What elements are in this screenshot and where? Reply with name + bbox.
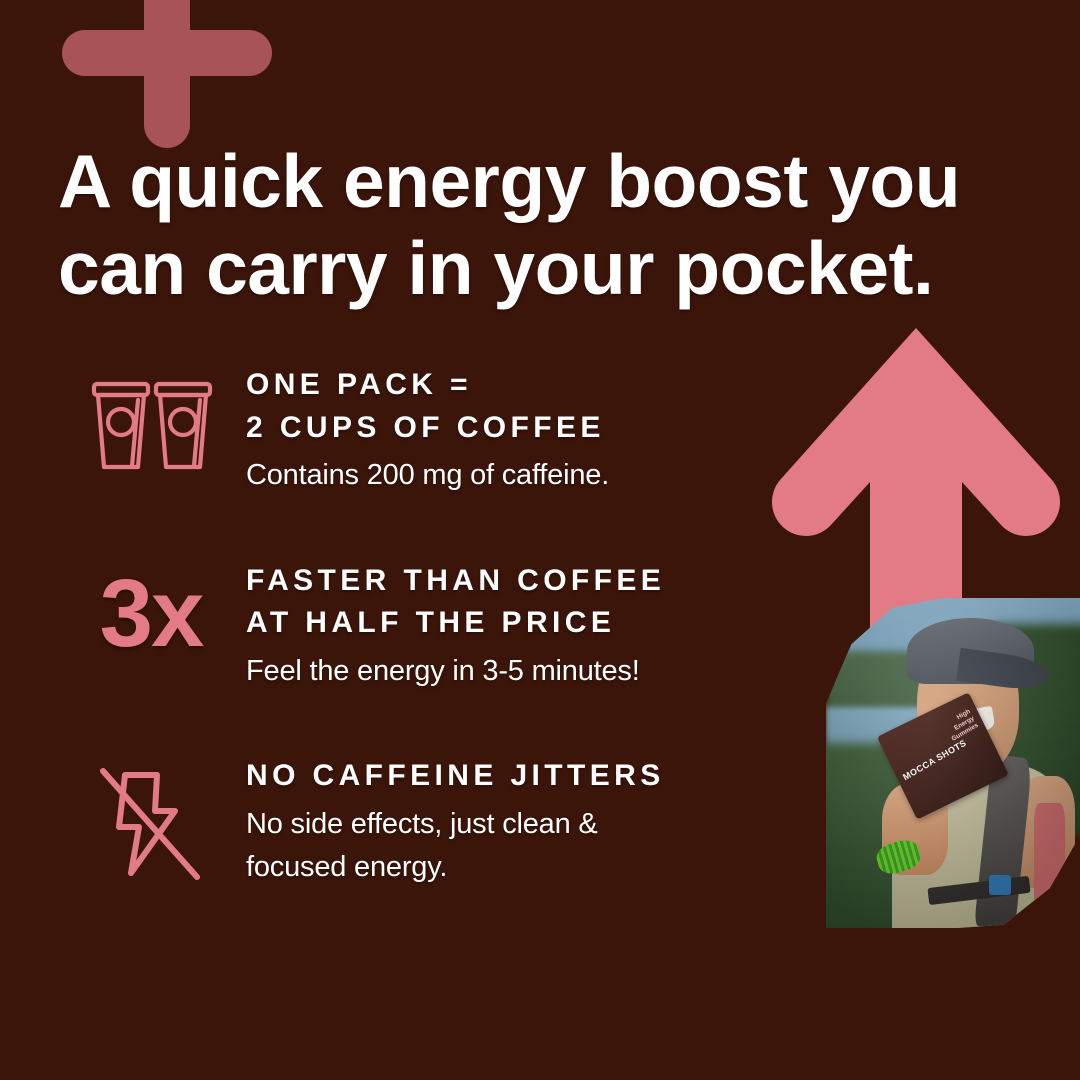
feature-list: ONE PACK = 2 CUPS OF COFFEE Contains 200… — [56, 362, 786, 890]
feature-item-one-pack: ONE PACK = 2 CUPS OF COFFEE Contains 200… — [56, 362, 786, 498]
feature-text-block: NO CAFFEINE JITTERS No side effects, jus… — [246, 753, 786, 890]
feature-item-faster-than-coffee: 3x FASTER THAN COFFEE AT HALF THE PRICE … — [56, 558, 786, 694]
feature-subtitle: Contains 200 mg of caffeine. — [246, 454, 786, 498]
feature-subtitle-line-1: Contains 200 mg of caffeine. — [246, 454, 786, 498]
feature-text-block: ONE PACK = 2 CUPS OF COFFEE Contains 200… — [246, 362, 786, 498]
product-description-label: High Energy Gummies — [942, 708, 980, 744]
plus-icon-vertical-bar — [144, 0, 190, 148]
two-coffee-cups-icon — [56, 362, 246, 482]
headline-line-2: can carry in your pocket. — [58, 225, 1018, 311]
feature-title-line-1: NO CAFFEINE JITTERS — [246, 755, 786, 798]
product-brand-label: MOCCA SHOTS — [901, 738, 968, 782]
feature-title-line-1: ONE PACK = — [246, 364, 786, 407]
promo-poster: A quick energy boost you can carry in yo… — [0, 0, 1080, 1080]
feature-title: FASTER THAN COFFEE AT HALF THE PRICE — [246, 560, 786, 645]
feature-item-no-jitters: NO CAFFEINE JITTERS No side effects, jus… — [56, 753, 786, 890]
lightning-bolt-slashed-icon — [56, 753, 246, 887]
feature-title-line-2: 2 CUPS OF COFFEE — [246, 407, 786, 450]
plus-icon-horizontal-bar — [62, 30, 272, 76]
feature-subtitle-line-2: focused energy. — [246, 846, 786, 890]
photo-strap-clip — [989, 875, 1012, 895]
person-holding-product-photo: MOCCA SHOTS High Energy Gummies — [826, 598, 1080, 928]
headline: A quick energy boost you can carry in yo… — [58, 138, 1018, 311]
headline-line-1: A quick energy boost you — [58, 138, 1018, 224]
feature-subtitle-line-1: No side effects, just clean & — [246, 803, 786, 847]
feature-title-line-2: AT HALF THE PRICE — [246, 602, 786, 645]
feature-title-line-1: FASTER THAN COFFEE — [246, 560, 786, 603]
feature-subtitle: Feel the energy in 3-5 minutes! — [246, 650, 786, 694]
feature-text-block: FASTER THAN COFFEE AT HALF THE PRICE Fee… — [246, 558, 786, 694]
three-x-mark: 3x — [56, 558, 246, 662]
feature-title: ONE PACK = 2 CUPS OF COFFEE — [246, 364, 786, 449]
feature-title: NO CAFFEINE JITTERS — [246, 755, 786, 798]
feature-subtitle-line-1: Feel the energy in 3-5 minutes! — [246, 650, 786, 694]
feature-subtitle: No side effects, just clean & focused en… — [246, 803, 786, 890]
photo-backpack-accent — [1034, 803, 1064, 915]
photo-scene: MOCCA SHOTS High Energy Gummies — [826, 598, 1080, 928]
three-x-label: 3x — [100, 566, 203, 662]
